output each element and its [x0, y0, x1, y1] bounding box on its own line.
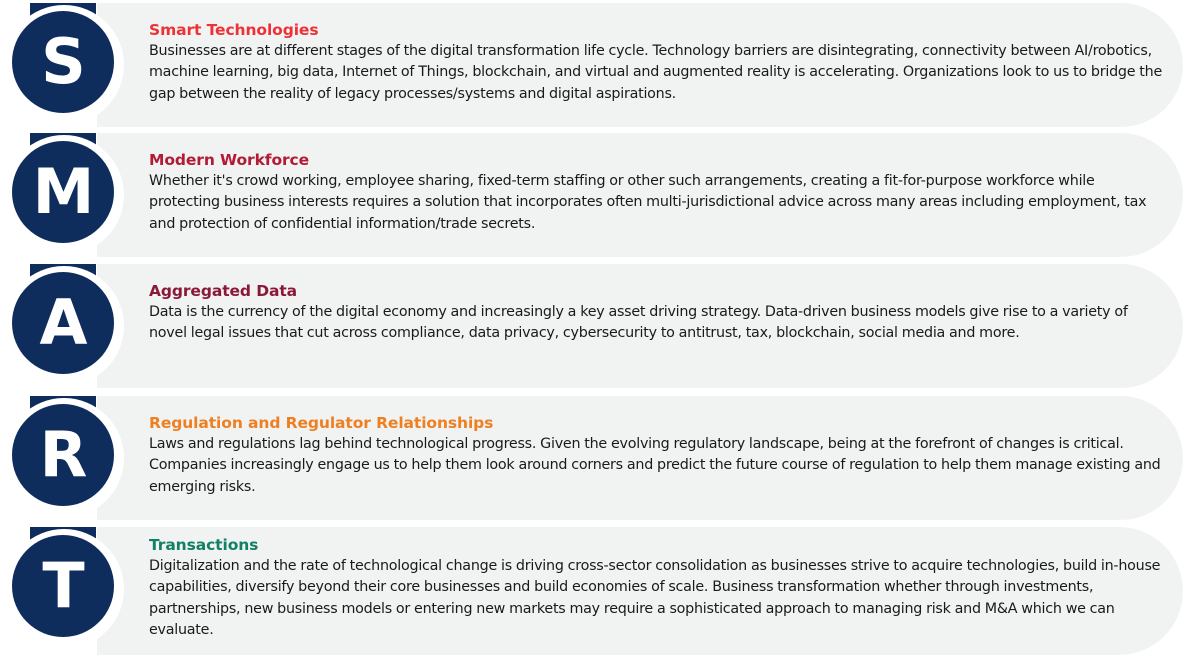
letter-badge-m: M — [12, 141, 114, 243]
row-title: Smart Technologies — [149, 21, 1169, 40]
row-body: Digitalization and the rate of technolog… — [149, 555, 1169, 641]
badge-letter: T — [12, 535, 114, 637]
row-text-block: Modern Workforce Whether it's crowd work… — [149, 133, 1169, 275]
letter-badge-r: R — [12, 404, 114, 506]
row-title: Transactions — [149, 536, 1169, 555]
smart-infographic: S Smart Technologies Businesses are at d… — [0, 0, 1200, 655]
smart-row-m: M Modern Workforce Whether it's crowd wo… — [0, 133, 1200, 257]
badge-letter: S — [12, 11, 114, 113]
badge-letter: A — [12, 272, 114, 374]
row-title: Modern Workforce — [149, 151, 1169, 170]
row-body: Data is the currency of the digital econ… — [149, 301, 1169, 345]
row-text-block: Regulation and Regulator Relationships L… — [149, 396, 1169, 538]
row-title: Regulation and Regulator Relationships — [149, 414, 1169, 433]
letter-badge-a: A — [12, 272, 114, 374]
row-text-block: Transactions Digitalization and the rate… — [149, 527, 1169, 664]
smart-row-s: S Smart Technologies Businesses are at d… — [0, 3, 1200, 127]
row-text-block: Smart Technologies Businesses are at dif… — [149, 3, 1169, 145]
row-body: Whether it's crowd working, employee sha… — [149, 170, 1169, 235]
row-body: Laws and regulations lag behind technolo… — [149, 433, 1169, 498]
badge-letter: M — [12, 141, 114, 243]
letter-badge-s: S — [12, 11, 114, 113]
smart-row-t: T Transactions Digitalization and the ra… — [0, 527, 1200, 655]
row-text-block: Aggregated Data Data is the currency of … — [149, 264, 1169, 406]
row-title: Aggregated Data — [149, 282, 1169, 301]
smart-row-a: A Aggregated Data Data is the currency o… — [0, 264, 1200, 388]
letter-badge-t: T — [12, 535, 114, 637]
badge-letter: R — [12, 404, 114, 506]
row-body: Businesses are at different stages of th… — [149, 40, 1169, 105]
smart-row-r: R Regulation and Regulator Relationships… — [0, 396, 1200, 520]
